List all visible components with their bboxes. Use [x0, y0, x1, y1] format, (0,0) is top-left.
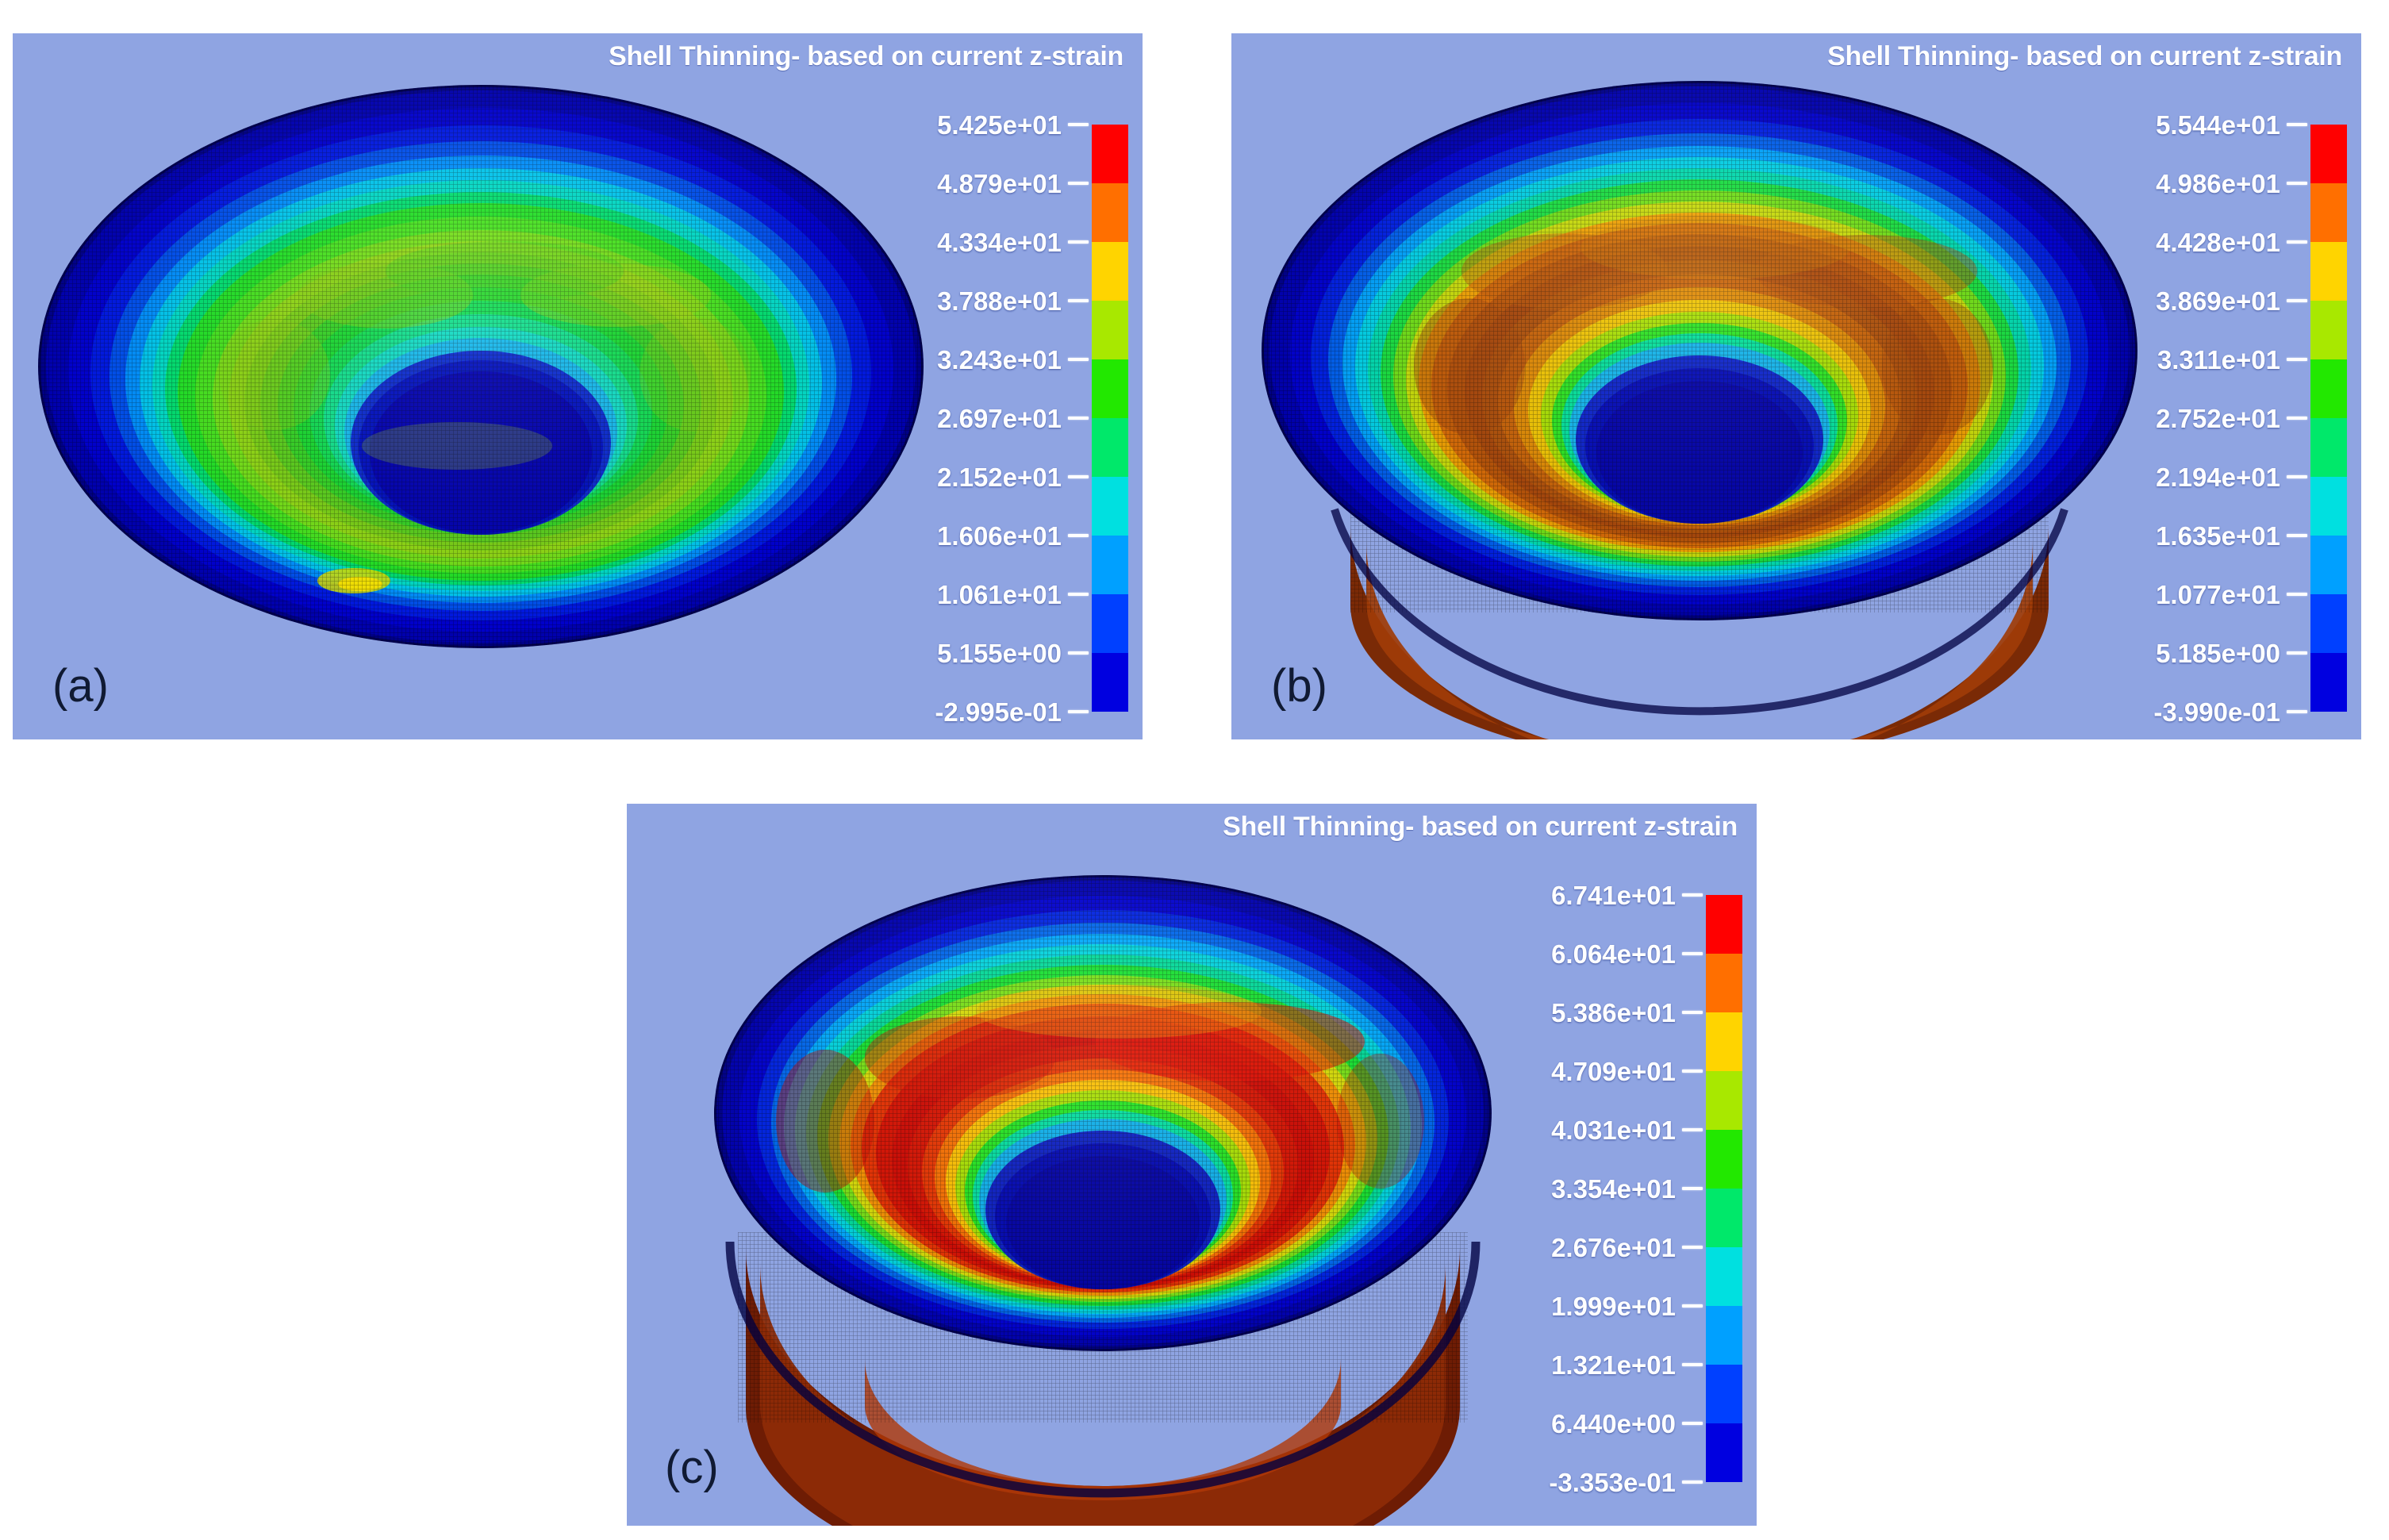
legend-row: 5.185e+00	[2085, 624, 2307, 682]
legend-swatch	[1706, 1365, 1742, 1423]
legend-swatch	[1092, 183, 1128, 242]
panel-b: Shell Thinning- based on current z-strai…	[1231, 33, 2361, 739]
legend-value: 6.064e+01	[1551, 941, 1679, 967]
legend-tick-icon	[2287, 710, 2307, 713]
legend-a: 5.425e+01 4.879e+01 4.334e+01 3.788e+01 …	[866, 95, 1128, 739]
legend-value: 4.428e+01	[2156, 229, 2283, 255]
panel-caption-a: (a)	[52, 659, 109, 712]
legend-swatch	[1092, 242, 1128, 301]
legend-swatch	[2310, 536, 2347, 594]
legend-tick-icon	[1682, 1070, 1703, 1073]
legend-row: -3.990e-01	[2085, 682, 2307, 739]
fea-contour-svg-a	[13, 33, 949, 739]
legend-row: 3.311e+01	[2085, 330, 2307, 389]
legend-value: 6.741e+01	[1551, 882, 1679, 908]
legend-value: 2.194e+01	[2156, 464, 2283, 490]
legend-tick-icon	[2287, 593, 2307, 596]
legend-tick-icon	[1682, 1304, 1703, 1308]
legend-row: 1.061e+01	[866, 565, 1089, 624]
legend-tick-icon	[1682, 1363, 1703, 1366]
legend-row: 1.077e+01	[2085, 565, 2307, 624]
legend-swatch	[2310, 301, 2347, 359]
legend-value: 4.031e+01	[1551, 1117, 1679, 1143]
legend-value: 1.606e+01	[937, 523, 1065, 549]
legend-tick-icon	[1068, 299, 1089, 302]
legend-row: 5.155e+00	[866, 624, 1089, 682]
legend-colorbar-b	[2310, 125, 2347, 712]
legend-swatch	[1092, 536, 1128, 594]
legend-tick-icon	[1682, 1422, 1703, 1425]
legend-value: 5.185e+00	[2156, 640, 2283, 666]
panel-a: Shell Thinning- based on current z-strai…	[13, 33, 1143, 739]
legend-tick-icon	[1682, 1187, 1703, 1190]
legend-value: 1.999e+01	[1551, 1293, 1679, 1319]
legend-row: 4.031e+01	[1481, 1100, 1703, 1159]
legend-row: 1.321e+01	[1481, 1335, 1703, 1394]
legend-row: 2.194e+01	[2085, 447, 2307, 506]
legend-row: 5.425e+01	[866, 95, 1089, 154]
legend-tick-icon	[2287, 417, 2307, 420]
legend-value: -3.353e-01	[1549, 1469, 1679, 1496]
legend-swatch	[2310, 418, 2347, 477]
legend-value: 5.544e+01	[2156, 112, 2283, 138]
legend-row: 4.428e+01	[2085, 213, 2307, 271]
fea-contour-svg-c	[627, 804, 1563, 1526]
legend-swatch	[2310, 477, 2347, 536]
legend-value: 4.709e+01	[1551, 1058, 1679, 1085]
legend-swatch	[1092, 653, 1128, 712]
panel-title-c: Shell Thinning- based on current z-strai…	[1223, 812, 1738, 843]
legend-row: 1.635e+01	[2085, 506, 2307, 565]
panel-title-b: Shell Thinning- based on current z-strai…	[1827, 41, 2342, 72]
legend-value: 5.155e+00	[937, 640, 1065, 666]
legend-value: 2.697e+01	[937, 405, 1065, 432]
legend-row: 6.741e+01	[1481, 866, 1703, 924]
panel-c: Shell Thinning- based on current z-strai…	[627, 804, 1757, 1526]
legend-swatch	[1706, 1306, 1742, 1365]
legend-tick-icon	[1682, 1480, 1703, 1484]
legend-swatch	[1092, 301, 1128, 359]
legend-tick-icon	[1682, 1128, 1703, 1131]
legend-value: -2.995e-01	[935, 699, 1065, 725]
legend-row: 5.386e+01	[1481, 983, 1703, 1042]
legend-row: 2.752e+01	[2085, 389, 2307, 447]
legend-tick-icon	[1068, 651, 1089, 655]
legend-tick-icon	[1682, 1246, 1703, 1249]
legend-tick-icon	[2287, 240, 2307, 244]
legend-tick-icon	[2287, 299, 2307, 302]
legend-row: -2.995e-01	[866, 682, 1089, 739]
legend-value: 2.152e+01	[937, 464, 1065, 490]
legend-swatch	[2310, 183, 2347, 242]
legend-row: 4.709e+01	[1481, 1042, 1703, 1100]
legend-row: 3.788e+01	[866, 271, 1089, 330]
legend-value: 3.788e+01	[937, 288, 1065, 314]
legend-swatch	[1706, 1130, 1742, 1189]
legend-tick-icon	[1068, 475, 1089, 478]
legend-colorbar-a	[1092, 125, 1128, 712]
legend-swatch	[1706, 1071, 1742, 1130]
legend-row: 2.697e+01	[866, 389, 1089, 447]
legend-tick-icon	[1682, 1011, 1703, 1014]
legend-swatch	[2310, 125, 2347, 183]
legend-colorbar-c	[1706, 895, 1742, 1482]
legend-b: 5.544e+01 4.986e+01 4.428e+01 3.869e+01 …	[2085, 95, 2347, 739]
legend-swatch	[2310, 653, 2347, 712]
legend-swatch	[1092, 594, 1128, 653]
legend-tick-icon	[1068, 240, 1089, 244]
legend-value: 1.061e+01	[937, 582, 1065, 608]
contour-bands-a	[13, 33, 949, 739]
legend-row: 3.354e+01	[1481, 1159, 1703, 1218]
legend-row: 6.064e+01	[1481, 924, 1703, 983]
legend-swatch	[1092, 418, 1128, 477]
legend-swatch	[1706, 1012, 1742, 1071]
legend-row: 1.606e+01	[866, 506, 1089, 565]
legend-c: 6.741e+01 6.064e+01 5.386e+01 4.709e+01 …	[1481, 866, 1742, 1511]
legend-value: 4.986e+01	[2156, 171, 2283, 197]
legend-row: 3.869e+01	[2085, 271, 2307, 330]
legend-row: 3.243e+01	[866, 330, 1089, 389]
legend-tick-icon	[1068, 182, 1089, 185]
legend-value: 3.354e+01	[1551, 1176, 1679, 1202]
legend-swatch	[2310, 242, 2347, 301]
legend-value: 4.879e+01	[937, 171, 1065, 197]
bowl-mesh-b	[1231, 33, 2168, 739]
legend-value: 1.077e+01	[2156, 582, 2283, 608]
legend-value: 1.635e+01	[2156, 523, 2283, 549]
panel-caption-b: (b)	[1271, 659, 1327, 712]
legend-tick-icon	[1068, 534, 1089, 537]
legend-tick-icon	[2287, 123, 2307, 126]
legend-row: 4.334e+01	[866, 213, 1089, 271]
legend-tick-icon	[1068, 417, 1089, 420]
legend-tick-icon	[1682, 952, 1703, 955]
legend-tick-icon	[1682, 893, 1703, 897]
legend-tick-icon	[2287, 651, 2307, 655]
bowl-mesh-c	[627, 804, 1563, 1526]
legend-tick-icon	[1068, 123, 1089, 126]
legend-value: 4.334e+01	[937, 229, 1065, 255]
legend-swatch	[1092, 477, 1128, 536]
legend-swatch	[1092, 125, 1128, 183]
fea-contour-svg-b	[1231, 33, 2168, 739]
legend-value: 1.321e+01	[1551, 1352, 1679, 1378]
legend-value: 3.243e+01	[937, 347, 1065, 373]
legend-swatch	[1706, 1189, 1742, 1247]
bowl-mesh-a	[13, 33, 949, 739]
legend-swatch	[2310, 594, 2347, 653]
panel-title-a: Shell Thinning- based on current z-strai…	[609, 41, 1123, 72]
legend-tick-icon	[1068, 593, 1089, 596]
legend-row: 2.676e+01	[1481, 1218, 1703, 1277]
legend-swatch	[1706, 1423, 1742, 1482]
legend-row: 4.879e+01	[866, 154, 1089, 213]
legend-value: 2.676e+01	[1551, 1235, 1679, 1261]
legend-row: 6.440e+00	[1481, 1394, 1703, 1453]
legend-swatch	[2310, 359, 2347, 418]
legend-row: 4.986e+01	[2085, 154, 2307, 213]
legend-row: 2.152e+01	[866, 447, 1089, 506]
legend-tick-icon	[2287, 475, 2307, 478]
legend-value: 5.425e+01	[937, 112, 1065, 138]
legend-value: -3.990e-01	[2153, 699, 2283, 725]
legend-row: 1.999e+01	[1481, 1277, 1703, 1335]
legend-tick-icon	[2287, 358, 2307, 361]
legend-tick-icon	[1068, 358, 1089, 361]
legend-tick-icon	[1068, 710, 1089, 713]
legend-value: 3.869e+01	[2156, 288, 2283, 314]
legend-row: 5.544e+01	[2085, 95, 2307, 154]
legend-value: 6.440e+00	[1551, 1411, 1679, 1437]
legend-value: 5.386e+01	[1551, 1000, 1679, 1026]
legend-swatch	[1706, 895, 1742, 954]
legend-swatch	[1706, 1247, 1742, 1306]
legend-tick-icon	[2287, 182, 2307, 185]
legend-swatch	[1092, 359, 1128, 418]
panel-caption-c: (c)	[665, 1441, 719, 1494]
legend-value: 3.311e+01	[2157, 347, 2283, 373]
legend-tick-icon	[2287, 534, 2307, 537]
legend-swatch	[1706, 954, 1742, 1012]
legend-value: 2.752e+01	[2156, 405, 2283, 432]
legend-row: -3.353e-01	[1481, 1453, 1703, 1511]
